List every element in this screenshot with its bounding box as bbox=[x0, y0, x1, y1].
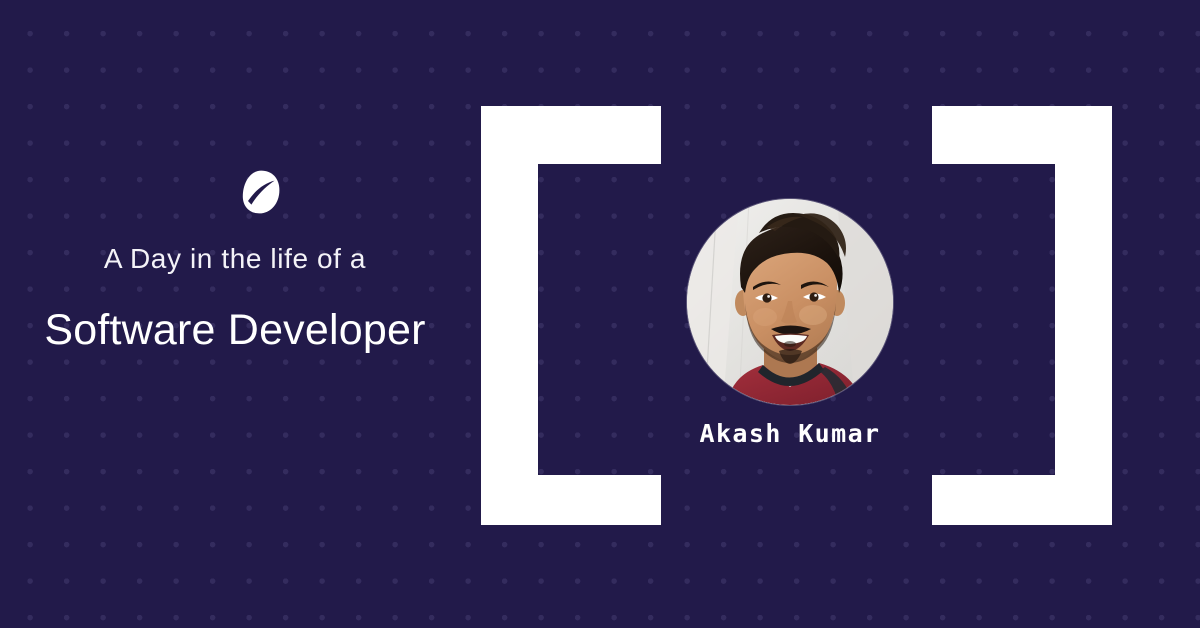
bracket-left-shape bbox=[481, 106, 661, 525]
eyebrow-text: A Day in the life of a bbox=[0, 242, 470, 276]
bracket-left-bottom-arm bbox=[481, 475, 661, 525]
page-title: Software Developer bbox=[0, 304, 470, 356]
leaf-icon bbox=[242, 170, 280, 214]
headline-block: A Day in the life of a Software Develope… bbox=[0, 0, 470, 628]
bracket-right-shape bbox=[932, 106, 1112, 525]
bracket-right-stem bbox=[1055, 106, 1112, 525]
person-name: Akash Kumar bbox=[640, 419, 940, 449]
banner-canvas: A Day in the life of a Software Develope… bbox=[0, 0, 1200, 628]
avatar bbox=[687, 199, 893, 405]
bracket-left-stem bbox=[481, 106, 538, 525]
bracket-right-bottom-arm bbox=[932, 475, 1112, 525]
